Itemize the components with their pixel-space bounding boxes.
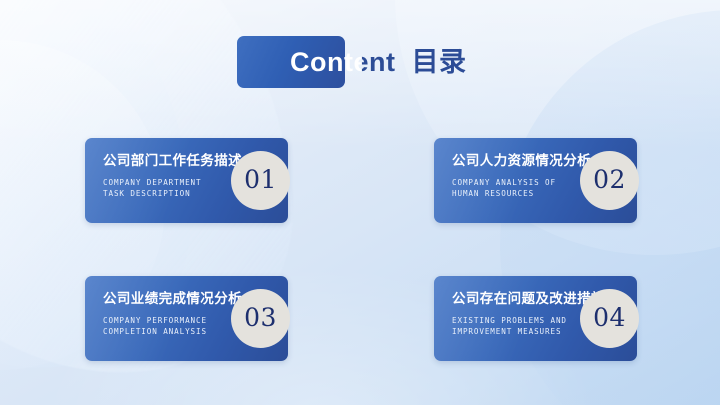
title-text-cn: 目录: [412, 47, 467, 77]
toc-card-02-title-en: COMPANY ANALYSIS OF HUMAN RESOURCES: [452, 177, 556, 199]
toc-card-02-title-cn: 公司人力资源情况分析: [452, 149, 591, 169]
toc-card-02-number: 02: [593, 167, 626, 194]
toc-card-03-title-en: COMPANY PERFORMANCE COMPLETION ANALYSIS: [103, 315, 207, 337]
toc-card-01-title-en: COMPANY DEPARTMENT TASK DESCRIPTION: [103, 177, 202, 199]
toc-card-03-number: 03: [244, 305, 277, 332]
slide-title: Content 目录: [237, 36, 537, 90]
toc-card-01-number-badge: 01: [231, 151, 290, 210]
toc-card-01[interactable]: 公司部门工作任务描述 COMPANY DEPARTMENT TASK DESCR…: [85, 138, 288, 223]
slide-canvas: Content 目录 公司部门工作任务描述 COMPANY DEPARTMENT…: [0, 0, 720, 405]
toc-card-04-title-cn: 公司存在问题及改进措施: [452, 287, 605, 307]
toc-card-02[interactable]: 公司人力资源情况分析 COMPANY ANALYSIS OF HUMAN RES…: [434, 138, 637, 223]
toc-card-01-number: 01: [244, 167, 277, 194]
toc-card-03-title-cn: 公司业绩完成情况分析: [103, 287, 242, 307]
title-text: Content 目录: [290, 36, 467, 88]
toc-card-02-number-badge: 02: [580, 151, 639, 210]
toc-card-04-number-badge: 04: [580, 289, 639, 348]
title-text-en: Content: [290, 47, 395, 77]
toc-card-01-title-cn: 公司部门工作任务描述: [103, 149, 242, 169]
toc-card-03[interactable]: 公司业绩完成情况分析 COMPANY PERFORMANCE COMPLETIO…: [85, 276, 288, 361]
toc-card-04[interactable]: 公司存在问题及改进措施 EXISTING PROBLEMS AND IMPROV…: [434, 276, 637, 361]
toc-card-03-number-badge: 03: [231, 289, 290, 348]
toc-card-04-title-en: EXISTING PROBLEMS AND IMPROVEMENT MEASUR…: [452, 315, 567, 337]
toc-card-04-number: 04: [593, 305, 626, 332]
